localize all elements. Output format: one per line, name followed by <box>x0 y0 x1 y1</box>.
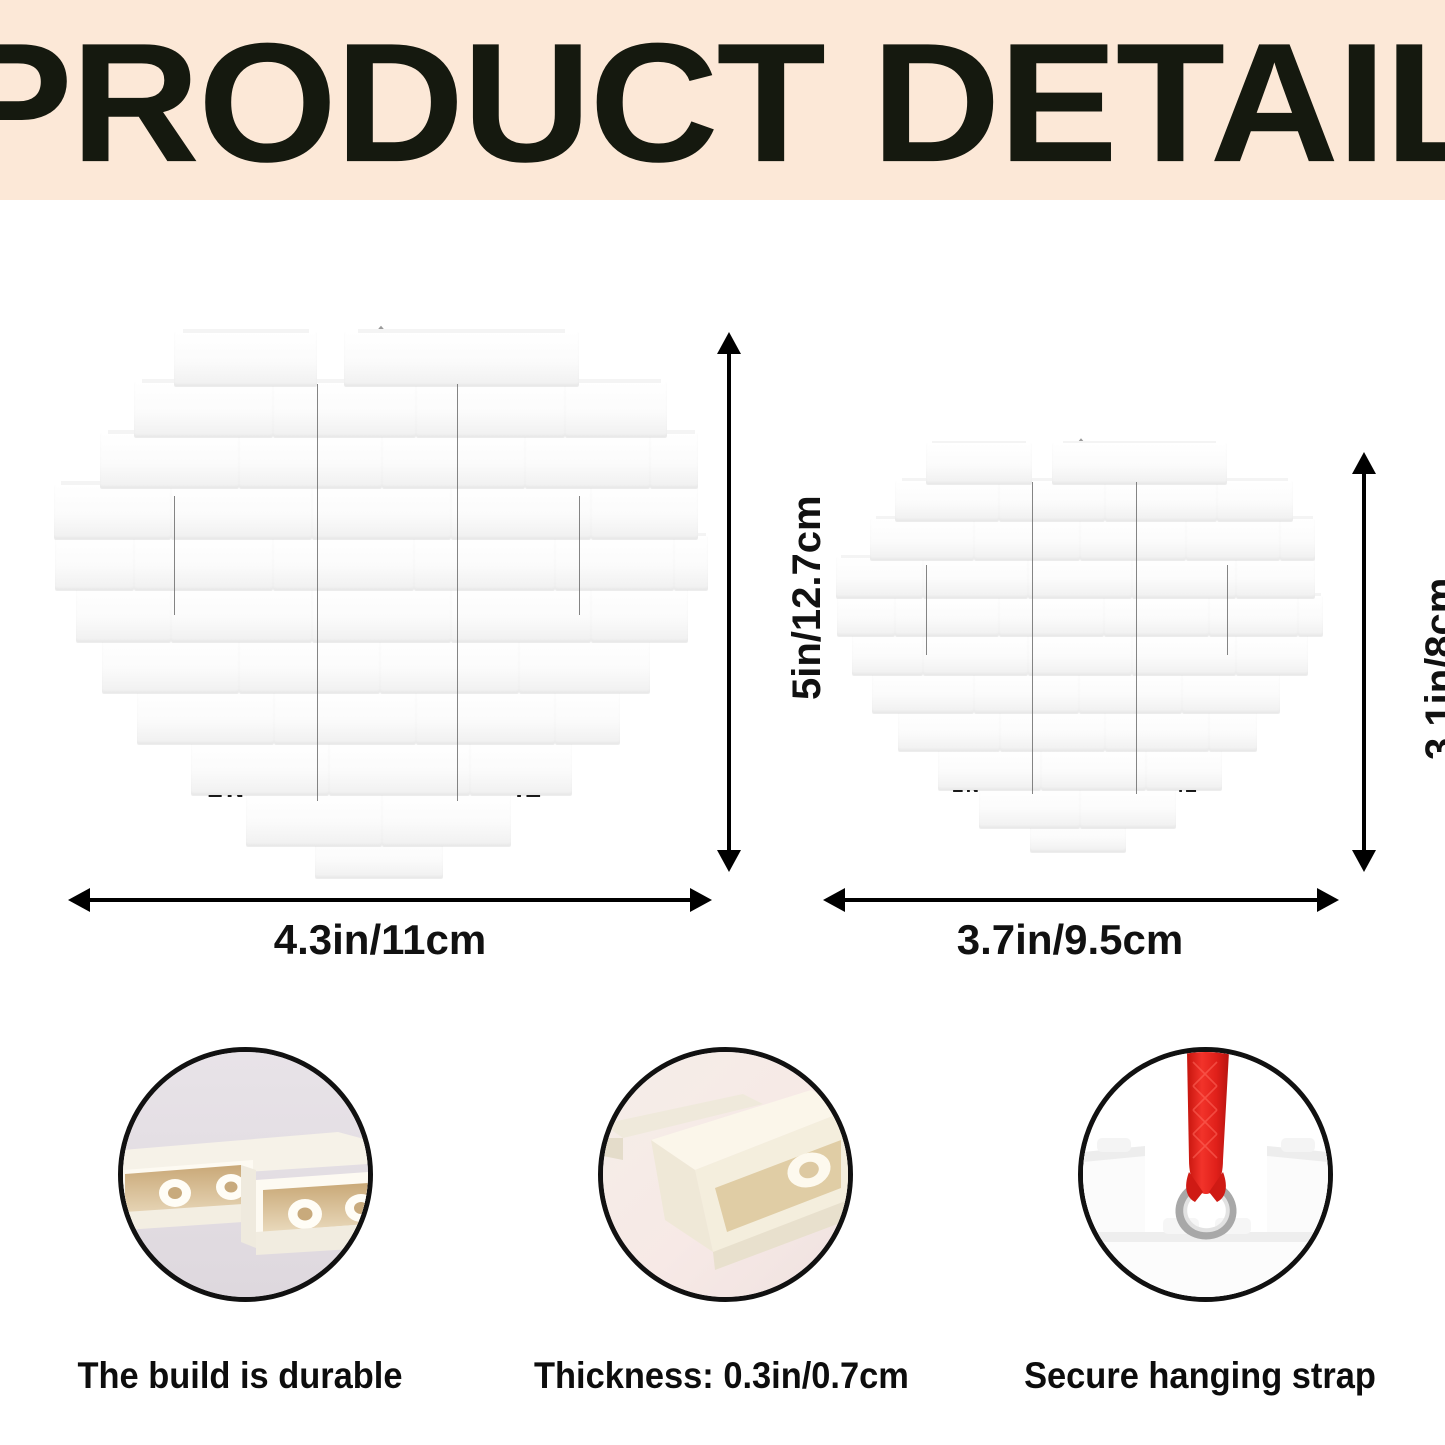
detail-photo-strap <box>1078 1047 1333 1302</box>
brick <box>1209 596 1298 637</box>
brick <box>895 596 999 637</box>
brick <box>923 557 1028 598</box>
brick <box>273 382 416 436</box>
brick <box>134 382 273 436</box>
brick <box>1132 634 1236 675</box>
brick <box>1028 634 1131 675</box>
brick <box>591 485 698 539</box>
brick <box>451 485 591 539</box>
brick <box>134 536 273 590</box>
brick <box>1132 557 1236 598</box>
brick <box>1080 519 1186 560</box>
detail-caption-durable: The build is durable <box>54 1355 426 1397</box>
brick <box>312 587 451 641</box>
brick <box>1105 711 1209 752</box>
brick <box>382 792 511 846</box>
brick <box>171 587 312 641</box>
ornament-small: I WOULD CHOOSE YOU TO BE MY HUSBAND Jess… <box>822 443 1328 851</box>
brick-seam <box>579 496 580 616</box>
brick <box>1041 749 1146 790</box>
brick <box>923 634 1028 675</box>
brick <box>382 433 525 487</box>
brick <box>974 519 1080 560</box>
brick <box>525 433 651 487</box>
brick <box>414 536 555 590</box>
detail-photo-thickness <box>598 1047 853 1302</box>
brick <box>246 792 382 846</box>
brick <box>1182 672 1280 713</box>
brick <box>591 587 688 641</box>
brick <box>54 485 171 539</box>
brick-thickness-icon <box>603 1052 848 1297</box>
detail-caption-thickness: Thickness: 0.3in/0.7cm <box>534 1355 906 1397</box>
brick-seam <box>1227 565 1228 655</box>
brick <box>1217 481 1293 522</box>
brick <box>1280 519 1315 560</box>
brick <box>1186 519 1280 560</box>
page-title: PRODUCT DETAIL <box>0 18 1445 188</box>
brick <box>416 382 566 436</box>
brick <box>565 382 667 436</box>
brick-seam <box>1032 482 1033 794</box>
brick <box>1000 711 1105 752</box>
brick <box>1236 557 1315 598</box>
brick <box>451 587 591 641</box>
dimension-small-height-label: 3.1in/8cm <box>1418 578 1445 760</box>
brick <box>102 638 239 692</box>
brick <box>76 587 171 641</box>
brick <box>974 672 1079 713</box>
brick <box>174 332 317 386</box>
brick <box>837 596 895 637</box>
brick <box>870 519 974 560</box>
brick <box>519 638 650 692</box>
brick <box>1052 443 1227 484</box>
brick <box>1236 634 1308 675</box>
brick <box>55 536 133 590</box>
brick <box>999 596 1104 637</box>
brick <box>938 749 1040 790</box>
brick <box>1080 787 1176 828</box>
brick <box>239 433 382 487</box>
brick-seam <box>1136 482 1137 794</box>
brick <box>836 557 923 598</box>
dimension-small-width-label: 3.7in/9.5cm <box>780 916 1360 964</box>
brick <box>416 690 555 744</box>
brick <box>1079 672 1182 713</box>
brick <box>1028 557 1131 598</box>
brick <box>674 536 708 590</box>
brick <box>100 433 239 487</box>
brick <box>329 741 470 795</box>
brick <box>1209 711 1257 752</box>
brick <box>1104 596 1209 637</box>
brick-seam <box>317 384 318 801</box>
brick <box>555 690 620 744</box>
brick <box>555 536 674 590</box>
hanging-strap-icon <box>1083 1052 1328 1297</box>
brick <box>470 741 572 795</box>
brick <box>191 741 328 795</box>
brick-seam <box>926 565 927 655</box>
brick <box>312 485 451 539</box>
detail-caption-strap: Secure hanging strap <box>1014 1355 1386 1397</box>
dimension-large-width-label: 4.3in/11cm <box>0 916 760 964</box>
brick <box>999 481 1105 522</box>
brick <box>650 433 698 487</box>
brick <box>380 638 519 692</box>
brick <box>852 634 923 675</box>
brick <box>895 481 999 522</box>
brick-seam <box>174 496 175 616</box>
brick <box>171 485 312 539</box>
detail-photo-durable <box>118 1047 373 1302</box>
brick-underside-icon <box>123 1052 368 1297</box>
brick <box>344 332 579 386</box>
brick <box>872 672 974 713</box>
brick <box>926 443 1032 484</box>
ornament-large: I WOULD CHOOSE YOU TO BE MY HUSBAND Jess… <box>35 332 715 877</box>
brick <box>1105 481 1216 522</box>
brick <box>137 690 274 744</box>
brick <box>898 711 1000 752</box>
brick <box>273 536 414 590</box>
brick <box>1146 749 1222 790</box>
brick <box>979 787 1080 828</box>
brick <box>274 690 415 744</box>
brick <box>239 638 380 692</box>
brick <box>1298 596 1323 637</box>
brick-seam <box>457 384 458 801</box>
